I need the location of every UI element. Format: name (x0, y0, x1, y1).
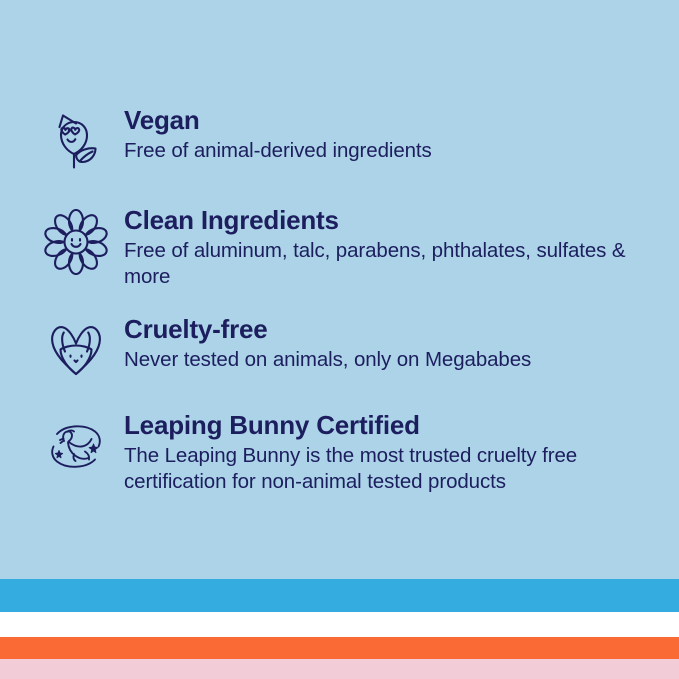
feature-item-vegan: Vegan Free of animal-derived ingredients (0, 104, 679, 176)
feature-description: Free of animal-derived ingredients (124, 138, 654, 164)
feature-description: The Leaping Bunny is the most trusted cr… (124, 443, 654, 495)
product-claims-panel: Vegan Free of animal-derived ingredients (0, 0, 679, 679)
feature-title: Vegan (124, 106, 654, 135)
feature-description: Never tested on animals, only on Megabab… (124, 347, 654, 373)
feature-text-leaping-bunny: Leaping Bunny Certified The Leaping Bunn… (124, 409, 654, 496)
feature-title: Clean Ingredients (124, 206, 654, 235)
bottom-color-stripes (0, 579, 679, 679)
feature-text-cruelty-free: Cruelty-free Never tested on animals, on… (124, 313, 654, 373)
feature-item-leaping-bunny: Leaping Bunny Certified The Leaping Bunn… (0, 409, 679, 496)
feature-title: Leaping Bunny Certified (124, 411, 654, 440)
feature-text-vegan: Vegan Free of animal-derived ingredients (124, 104, 654, 164)
vegan-sprout-face-icon (42, 108, 110, 176)
feature-text-clean-ingredients: Clean Ingredients Free of aluminum, talc… (124, 204, 654, 291)
feature-description: Free of aluminum, talc, parabens, phthal… (124, 238, 654, 290)
stripe-orange (0, 637, 679, 659)
feature-title: Cruelty-free (124, 315, 654, 344)
stripe-white (0, 612, 679, 637)
feature-item-cruelty-free: Cruelty-free Never tested on animals, on… (0, 313, 679, 385)
stripe-pink (0, 659, 679, 679)
daisy-flower-smiley-icon (42, 208, 110, 276)
bunny-heart-face-icon (42, 317, 110, 385)
leaping-bunny-logo-icon (42, 413, 110, 481)
features-list: Vegan Free of animal-derived ingredients (0, 0, 679, 579)
stripe-blue (0, 579, 679, 612)
feature-item-clean-ingredients: Clean Ingredients Free of aluminum, talc… (0, 204, 679, 291)
